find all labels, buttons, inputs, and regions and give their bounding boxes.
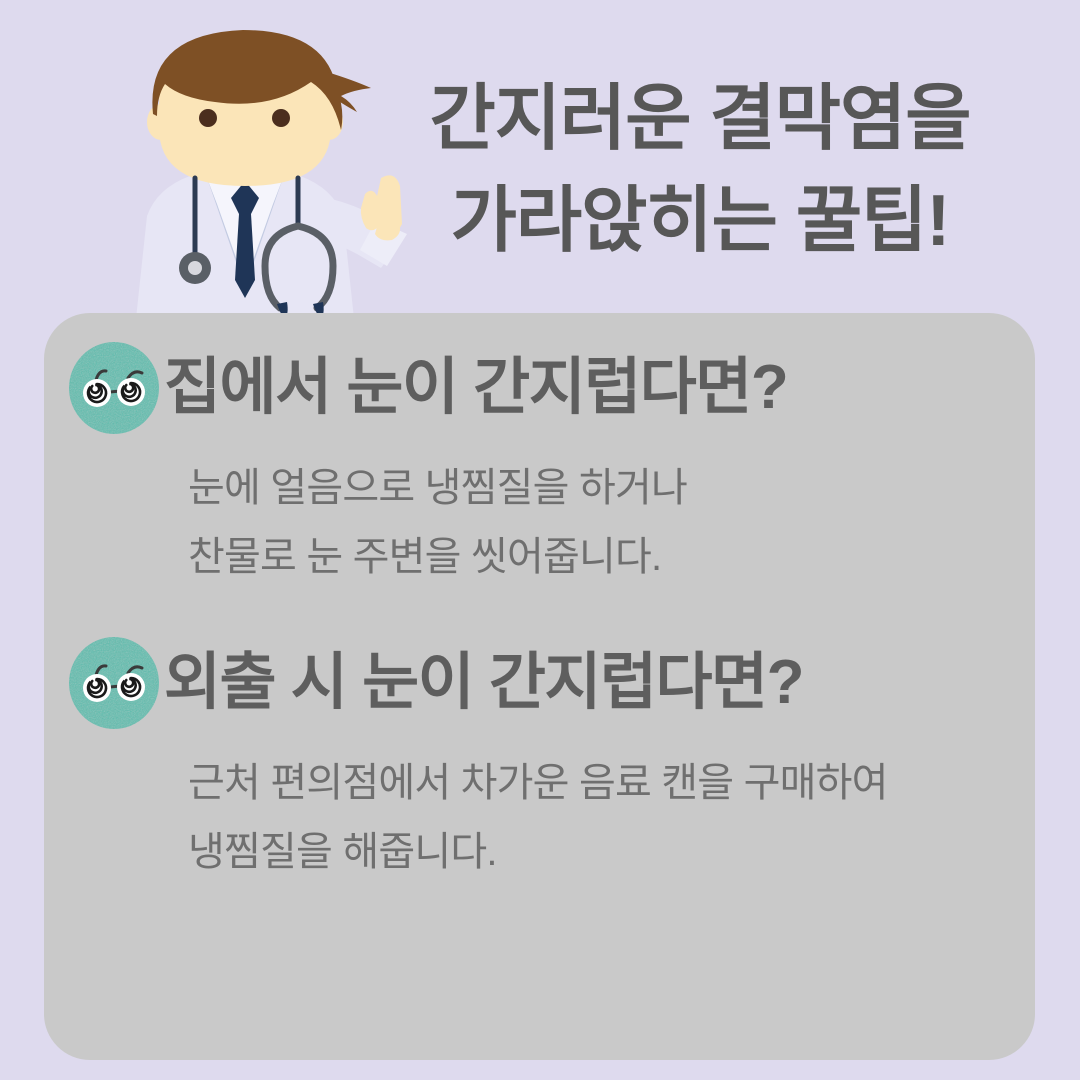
tip-section-home: 집에서 눈이 간지럽다면? 눈에 얼음으로 냉찜질을 하거나 찬물로 눈 주변을… bbox=[66, 340, 1016, 592]
tip-body-line: 눈에 얼음으로 냉찜질을 하거나 bbox=[188, 454, 1016, 523]
poster-canvas: 간지러운 결막염을 가라앉히는 꿀팁! bbox=[0, 0, 1080, 1080]
spiral-eye-icon bbox=[66, 635, 162, 731]
tip-body-line: 찬물로 눈 주변을 씻어줍니다. bbox=[188, 523, 1016, 592]
tip-heading-row: 집에서 눈이 간지럽다면? bbox=[66, 340, 1016, 436]
title-line-1: 간지러운 결막염을 bbox=[380, 68, 1020, 170]
tip-heading-row: 외출 시 눈이 간지럽다면? bbox=[66, 635, 1016, 731]
tip-heading-text: 외출 시 눈이 간지럽다면? bbox=[164, 652, 803, 714]
title-line-2: 가라앉히는 꿀팁! bbox=[380, 170, 1020, 272]
tip-body: 근처 편의점에서 차가운 음료 캔을 구매하여 냉찜질을 해줍니다. bbox=[188, 749, 1016, 887]
tips-card: 집에서 눈이 간지럽다면? 눈에 얼음으로 냉찜질을 하거나 찬물로 눈 주변을… bbox=[44, 313, 1035, 1060]
tip-heading-text: 집에서 눈이 간지럽다면? bbox=[164, 357, 787, 419]
tip-section-outdoor: 외출 시 눈이 간지럽다면? 근처 편의점에서 차가운 음료 캔을 구매하여 냉… bbox=[66, 635, 1016, 887]
spiral-eye-icon bbox=[66, 340, 162, 436]
tip-body-line: 냉찜질을 해줍니다. bbox=[188, 818, 1016, 887]
tip-body: 눈에 얼음으로 냉찜질을 하거나 찬물로 눈 주변을 씻어줍니다. bbox=[188, 454, 1016, 592]
poster-title: 간지러운 결막염을 가라앉히는 꿀팁! bbox=[380, 68, 1020, 272]
tip-body-line: 근처 편의점에서 차가운 음료 캔을 구매하여 bbox=[188, 749, 1016, 818]
